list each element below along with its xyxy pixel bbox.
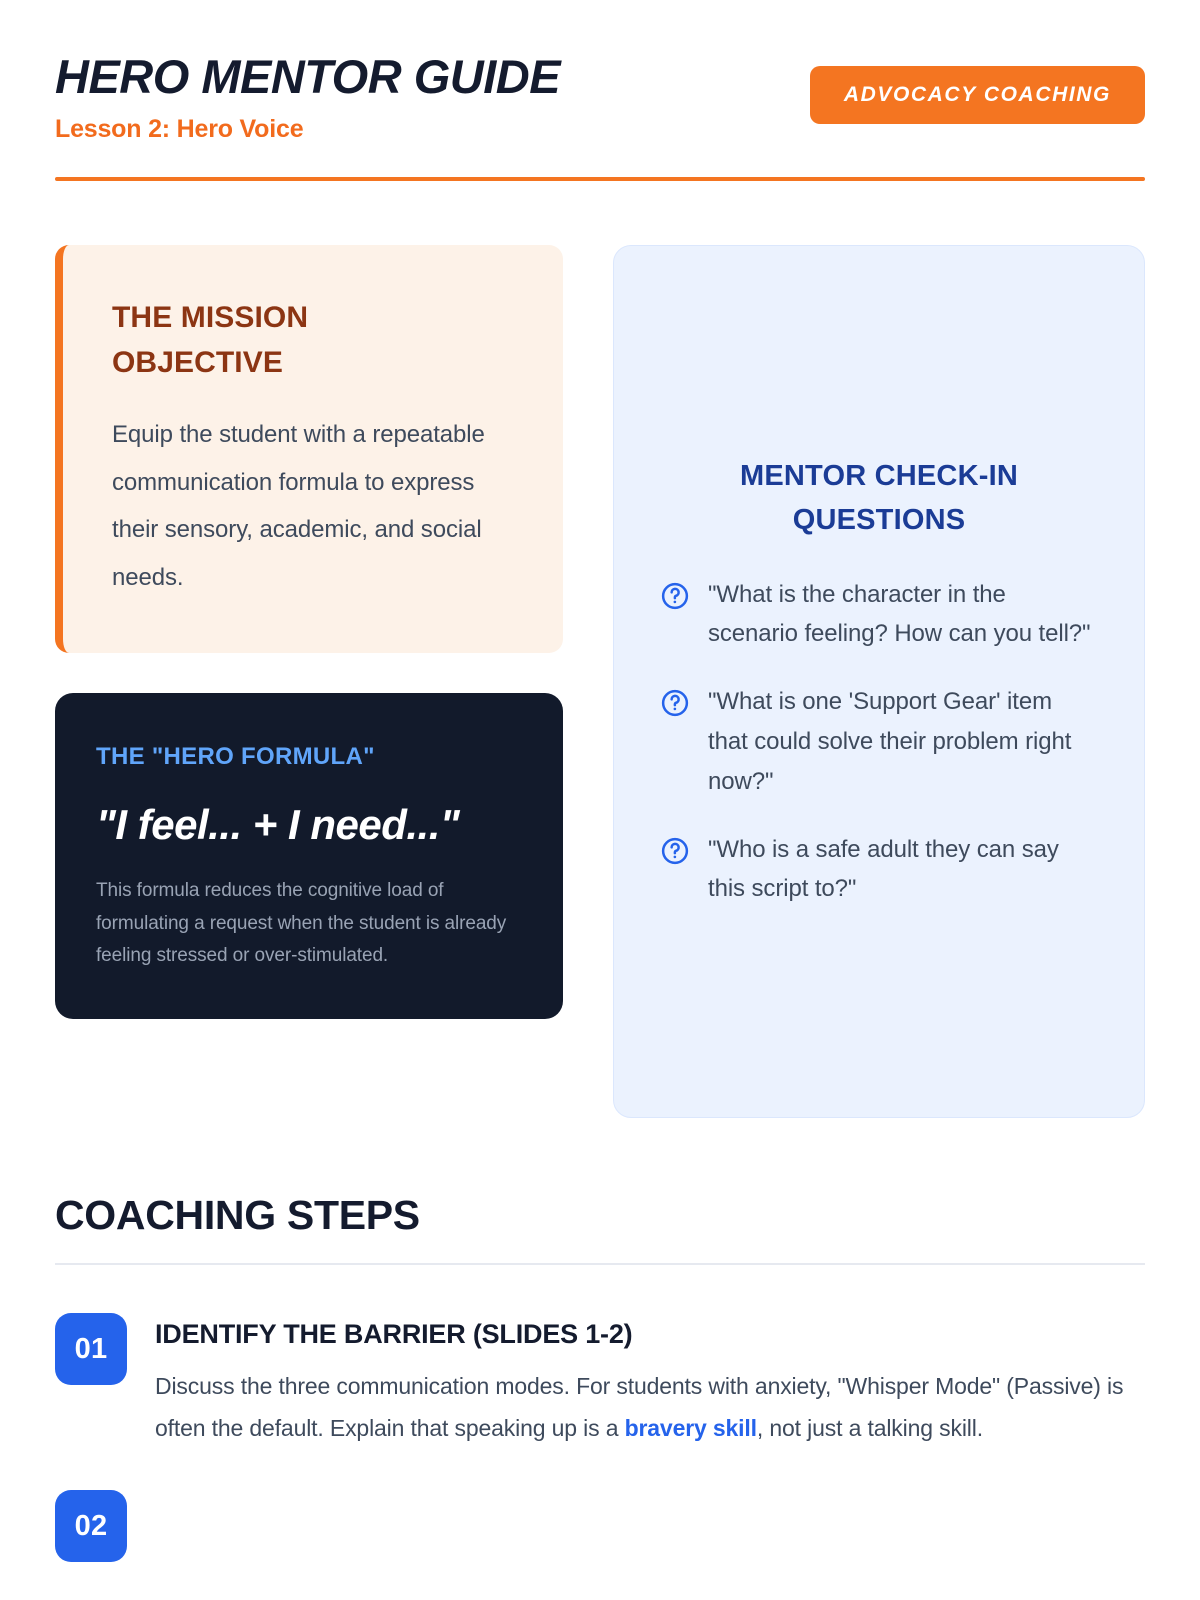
- step-body: IDENTIFY THE BARRIER (SLIDES 1-2) Discus…: [155, 1313, 1145, 1450]
- question-circle-icon: [660, 836, 690, 866]
- lesson-subtitle: Lesson 2: Hero Voice: [55, 115, 560, 144]
- step-body: [155, 1490, 1145, 1496]
- step-description: Discuss the three communication modes. F…: [155, 1366, 1145, 1450]
- header-divider: [55, 177, 1145, 181]
- step-title: IDENTIFY THE BARRIER (SLIDES 1-2): [155, 1319, 1145, 1350]
- list-item: "What is the character in the scenario f…: [660, 575, 1098, 655]
- hero-formula-note: This formula reduces the cognitive load …: [96, 875, 523, 973]
- step-number-badge: 01: [55, 1313, 127, 1385]
- guide-page: HERO MENTOR GUIDE Lesson 2: Hero Voice A…: [0, 0, 1200, 1600]
- coaching-step-row: 01 IDENTIFY THE BARRIER (SLIDES 1-2) Dis…: [55, 1313, 1145, 1450]
- mission-objective-text: Equip the student with a repeatable comm…: [112, 411, 515, 601]
- page-title: HERO MENTOR GUIDE: [55, 52, 560, 101]
- mentor-checkin-title: MENTOR CHECK-IN QUESTIONS: [660, 454, 1098, 542]
- hero-formula-quote: "I feel... + I need...": [96, 797, 523, 852]
- hero-formula-label: THE "HERO FORMULA": [96, 743, 523, 771]
- question-circle-icon: [660, 688, 690, 718]
- coaching-step-row: 02: [55, 1490, 1145, 1562]
- advocacy-coaching-badge: ADVOCACY COACHING: [810, 66, 1145, 124]
- right-column: MENTOR CHECK-IN QUESTIONS "What is the c…: [613, 245, 1145, 1118]
- top-content-grid: THE MISSION OBJECTIVE Equip the student …: [55, 245, 1145, 1118]
- hero-formula-card: THE "HERO FORMULA" "I feel... + I need..…: [55, 693, 563, 1018]
- list-item-label: "Who is a safe adult they can say this s…: [708, 830, 1098, 910]
- step-number-badge: 02: [55, 1490, 127, 1562]
- header-left: HERO MENTOR GUIDE Lesson 2: Hero Voice: [55, 48, 560, 144]
- page-header: HERO MENTOR GUIDE Lesson 2: Hero Voice A…: [55, 0, 1145, 144]
- list-item-label: "What is one 'Support Gear' item that co…: [708, 682, 1098, 801]
- coaching-steps-divider: [55, 1263, 1145, 1265]
- mentor-checkin-list: "What is the character in the scenario f…: [660, 575, 1098, 910]
- list-item: "What is one 'Support Gear' item that co…: [660, 682, 1098, 801]
- list-item: "Who is a safe adult they can say this s…: [660, 830, 1098, 910]
- mentor-checkin-panel: MENTOR CHECK-IN QUESTIONS "What is the c…: [613, 245, 1145, 1118]
- question-circle-icon: [660, 581, 690, 611]
- mission-objective-card: THE MISSION OBJECTIVE Equip the student …: [55, 245, 563, 653]
- left-column: THE MISSION OBJECTIVE Equip the student …: [55, 245, 563, 1118]
- step-text-after: , not just a talking skill.: [757, 1415, 983, 1441]
- mission-objective-title: THE MISSION OBJECTIVE: [112, 295, 392, 385]
- coaching-steps-heading: COACHING STEPS: [55, 1192, 1145, 1239]
- coaching-steps-section: COACHING STEPS 01 IDENTIFY THE BARRIER (…: [55, 1192, 1145, 1562]
- list-item-label: "What is the character in the scenario f…: [708, 575, 1098, 655]
- step-highlight-link[interactable]: bravery skill: [625, 1415, 757, 1441]
